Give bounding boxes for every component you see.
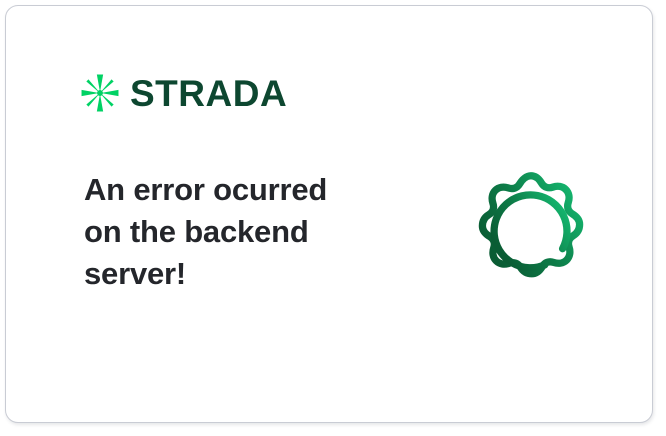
brand-wordmark: STRADA [130,75,287,112]
error-card: STRADA An error ocurred on the backend s… [5,5,653,423]
asterisk-starburst-icon [79,72,121,114]
gear-cog-icon [450,144,612,308]
brand-logo: STRADA [79,72,287,114]
error-screen: STRADA An error ocurred on the backend s… [0,0,666,436]
error-message-text: An error ocurred on the backend server! [84,169,384,295]
